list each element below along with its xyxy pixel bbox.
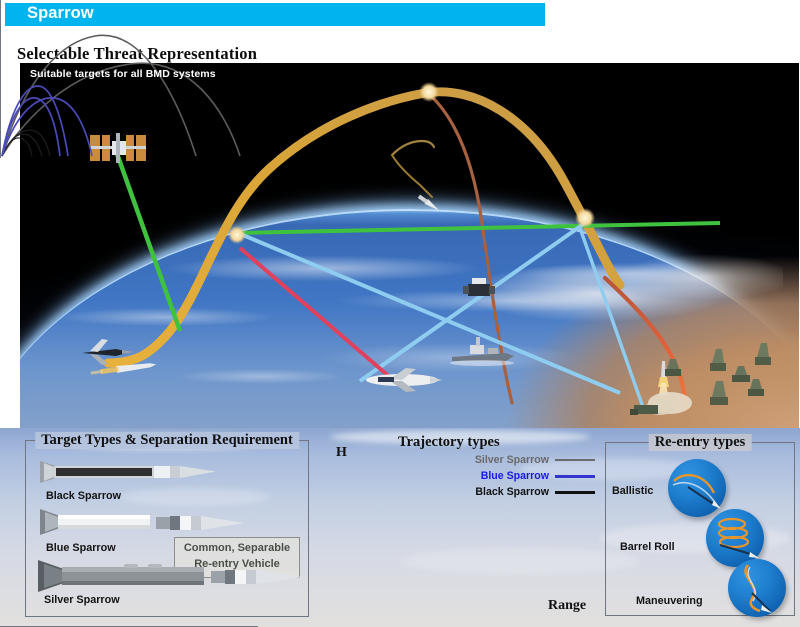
maneuvering-trace-icon (728, 559, 786, 617)
legend-item-black-sparrow: Black Sparrow (460, 484, 595, 500)
launcher-battery-icon (710, 349, 726, 371)
reentry-label-barrel-roll: Barrel Roll (620, 541, 675, 553)
missile-black-sparrow (38, 457, 218, 487)
launcher-battery-icon (748, 379, 764, 396)
legend-swatch-blue (555, 475, 595, 478)
green-horizontal-line (236, 223, 720, 233)
blue-sensor-line-3 (580, 228, 645, 413)
legend-swatch-black (555, 491, 595, 494)
legend-item-blue-sparrow: Blue Sparrow (460, 468, 595, 484)
rv-silver-sparrow (211, 565, 306, 591)
dark-gold-descent (392, 155, 432, 197)
red-descent-arc (605, 278, 686, 408)
scene-caption: Suitable targets for all BMD systems (30, 68, 216, 80)
legend-label-black: Black Sparrow (475, 486, 549, 498)
panel-trajectory-title: Trajectory types (398, 434, 500, 451)
blue-sensor-line-1 (238, 233, 620, 393)
crv-callout-line1: Common, Separable (182, 541, 292, 557)
reentry-label-ballistic: Ballistic (612, 485, 653, 497)
free-flying-rv-icon (417, 194, 441, 213)
curve-silver-1 (2, 35, 196, 156)
trajectory-legend: Silver Sparrow Blue Sparrow Black Sparro… (460, 452, 595, 500)
panel-target-types-title: Target Types & Separation Requirement (35, 432, 299, 449)
panel-reentry-types-title: Re-entry types (649, 434, 752, 451)
page-root: Sparrow Selectable Threat Representation… (0, 0, 800, 627)
panel-reentry-types: Re-entry types Ballistic Barrel Roll Man… (605, 442, 795, 616)
target-label-blue-sparrow: Blue Sparrow (46, 542, 116, 554)
panel-target-types: Target Types & Separation Requirement Bl… (25, 440, 309, 617)
apogee-flash-left (228, 226, 246, 244)
launcher-battery-icon (755, 343, 771, 365)
x-axis-label: Range (548, 598, 586, 614)
reentry-label-maneuvering: Maneuvering (636, 595, 703, 607)
apogee-flash-right (575, 208, 595, 228)
airborne-laser-icon (366, 368, 442, 392)
legend-label-silver: Silver Sparrow (475, 454, 549, 466)
legend-swatch-silver (555, 459, 595, 461)
launcher-battery-icon (732, 366, 750, 382)
navy-destroyer-icon (450, 337, 514, 366)
launcher-battery-icon (710, 381, 728, 405)
missile-blue-sparrow (38, 507, 153, 537)
dark-gold-arc (392, 141, 434, 155)
target-label-silver-sparrow: Silver Sparrow (44, 594, 120, 606)
rv-blue-sparrow (156, 511, 246, 537)
target-label-black-sparrow: Black Sparrow (46, 490, 121, 502)
legend-label-blue: Blue Sparrow (481, 470, 549, 482)
green-sensor-line (115, 148, 180, 331)
maneuvering-disc (728, 559, 786, 617)
missile-silver-sparrow (36, 559, 206, 593)
apogee-flash-top (419, 82, 439, 102)
y-axis-label: H (336, 445, 347, 461)
legend-item-silver-sparrow: Silver Sparrow (460, 452, 595, 468)
